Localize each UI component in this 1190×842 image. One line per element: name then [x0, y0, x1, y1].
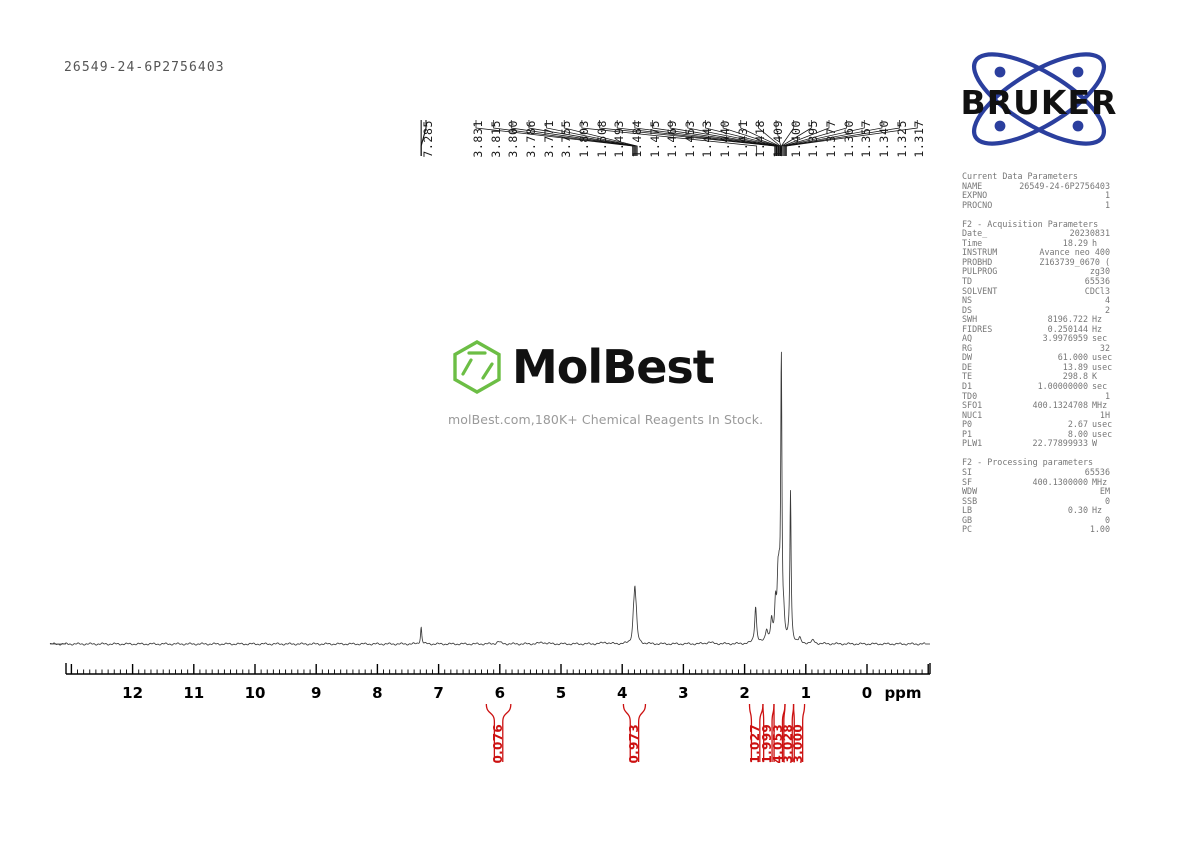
integral-value: 0.076	[492, 724, 504, 763]
peak-label: 1.469	[667, 120, 679, 158]
param-row: Date_20230831	[962, 229, 1122, 239]
param-row: D11.00000000sec	[962, 382, 1122, 392]
param-value: 1.00000000	[962, 382, 1088, 392]
param-row: WDWEM	[962, 487, 1122, 497]
param-value: 1.00	[962, 525, 1110, 535]
axis-ruler	[0, 660, 1190, 682]
peak-label: 1.803	[579, 120, 591, 158]
peak-label: 3.755	[561, 120, 573, 158]
peak-label: 3.815	[491, 120, 503, 158]
param-value: CDCl3	[962, 287, 1110, 297]
param-row: NS4	[962, 296, 1122, 306]
peak-label: 1.357	[861, 120, 873, 158]
watermark-brand: MolBest	[512, 344, 714, 390]
peak-label: 3.786	[526, 120, 538, 158]
acquisition-parameters-panel: Current Data ParametersNAME26549-24-6P27…	[962, 172, 1122, 535]
peak-label: 3.831	[473, 120, 485, 158]
param-row: SF400.1300000MHz	[962, 478, 1122, 488]
integral-bracket-lines	[0, 700, 1190, 790]
integral-value: 3.000	[792, 724, 804, 763]
peak-label: 1.317	[914, 120, 926, 158]
param-value: EM	[962, 487, 1110, 497]
peak-label: 3.771	[544, 120, 556, 158]
param-row: DE13.89usec	[962, 363, 1122, 373]
integral-value: 0.973	[628, 724, 640, 763]
param-value: 0.30	[962, 506, 1088, 516]
param-value: 3.9976959	[962, 334, 1088, 344]
param-row: SOLVENTCDCl3	[962, 287, 1122, 297]
param-value: 4	[962, 296, 1110, 306]
peak-label-rack: 7.2853.8313.8153.8003.7863.7713.7551.803…	[405, 58, 945, 158]
watermark-tagline: molBest.com,180K+ Chemical Reagents In S…	[448, 412, 748, 427]
param-unit: W	[1092, 439, 1097, 449]
param-value: 400.1300000	[962, 478, 1088, 488]
peak-label: 1.508	[597, 120, 609, 158]
sample-id-label: 26549-24-6P2756403	[64, 60, 225, 75]
hexagon-icon	[448, 338, 506, 396]
molbest-watermark: MolBest molBest.com,180K+ Chemical Reage…	[448, 338, 748, 427]
peak-label: 1.400	[791, 120, 803, 158]
peak-label: 1.340	[879, 120, 891, 158]
param-unit: Hz	[1092, 506, 1102, 516]
peak-label: 1.475	[650, 120, 662, 158]
param-row: PC1.00	[962, 525, 1122, 535]
param-row: SFO1400.1324708MHz	[962, 401, 1122, 411]
param-row: PROCNO1	[962, 201, 1122, 211]
peak-label: 1.395	[808, 120, 820, 158]
peak-label: 1.409	[773, 120, 785, 158]
peak-label: 1.325	[897, 120, 909, 158]
param-value: 0	[962, 516, 1110, 526]
peak-label: 1.360	[844, 120, 856, 158]
peak-label: 1.377	[826, 120, 838, 158]
peak-label: 1.418	[755, 120, 767, 158]
peak-label: 1.440	[720, 120, 732, 158]
param-row: LB0.30Hz	[962, 506, 1122, 516]
param-row: PLW122.77899933W	[962, 439, 1122, 449]
peak-label: 1.493	[614, 120, 626, 158]
peak-label: 1.484	[632, 120, 644, 158]
peak-label: 1.431	[738, 120, 750, 158]
integral-curves: 0.0760.9731.0271.9994.0533.0283.000	[0, 700, 1190, 790]
peak-label: 1.443	[702, 120, 714, 158]
bruker-wordmark: BRUKER	[961, 83, 1118, 122]
bruker-logo-svg: BRUKER	[952, 52, 1127, 147]
bruker-logo: BRUKER	[952, 52, 1127, 147]
param-row: AQ3.9976959sec	[962, 334, 1122, 344]
param-value: 1	[962, 201, 1110, 211]
peak-label: 1.453	[685, 120, 697, 158]
peak-label: 7.285	[423, 120, 435, 158]
peak-label: 3.800	[508, 120, 520, 158]
param-value: 22.77899933	[962, 439, 1088, 449]
